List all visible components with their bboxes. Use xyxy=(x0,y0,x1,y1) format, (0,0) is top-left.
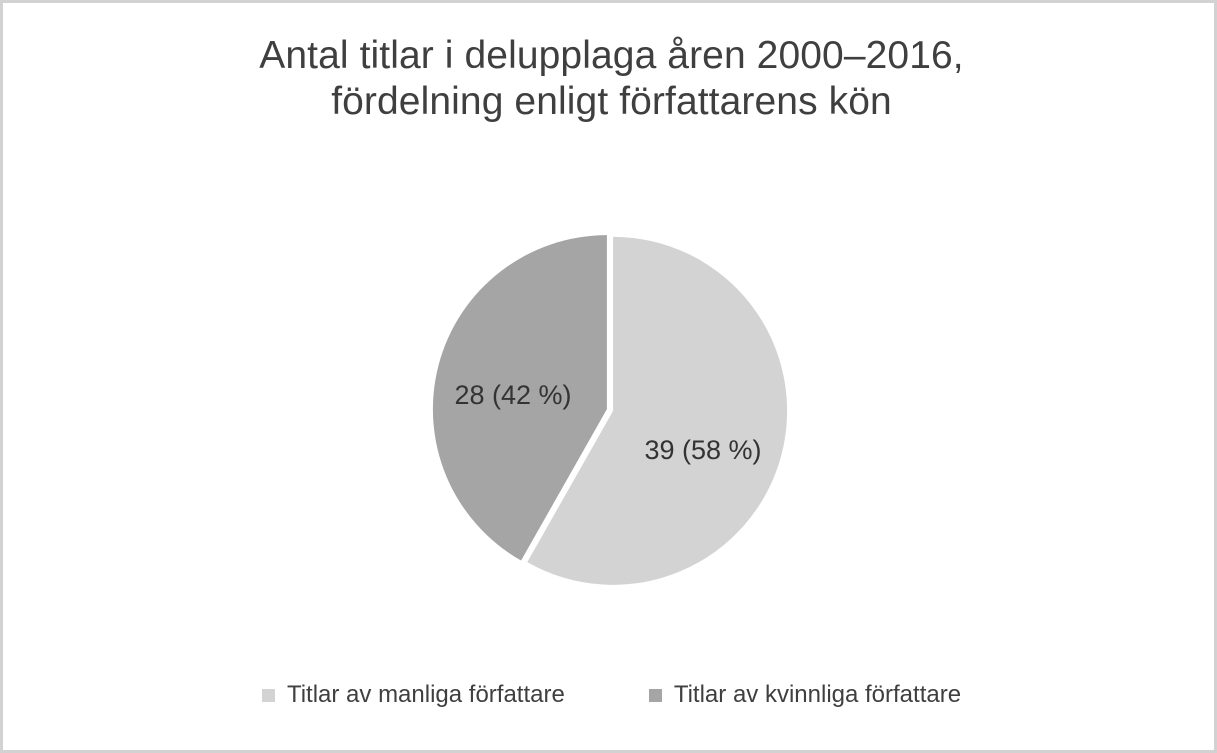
legend-swatch-icon xyxy=(649,689,662,702)
pie-chart: 28 (42 %) 39 (58 %) xyxy=(3,3,1217,753)
legend-swatch-icon xyxy=(262,689,275,702)
legend-item-manliga-forfattare[interactable]: Titlar av manliga författare xyxy=(262,681,565,709)
plot-area: 28 (42 %) 39 (58 %) xyxy=(3,3,1217,753)
legend-item-label: Titlar av manliga författare xyxy=(287,681,565,709)
legend-item-kvinnliga-forfattare[interactable]: Titlar av kvinnliga författare xyxy=(649,681,961,709)
legend-item-label: Titlar av kvinnliga författare xyxy=(674,681,961,709)
chart-legend: Titlar av manliga författare Titlar av k… xyxy=(3,681,1217,709)
pie-slice-label-manliga-forfattare: 39 (58 %) xyxy=(644,435,761,465)
chart-frame: Antal titlar i delupplaga åren 2000–2016… xyxy=(0,0,1217,753)
pie-slice-label-kvinnliga-forfattare: 28 (42 %) xyxy=(454,380,571,410)
